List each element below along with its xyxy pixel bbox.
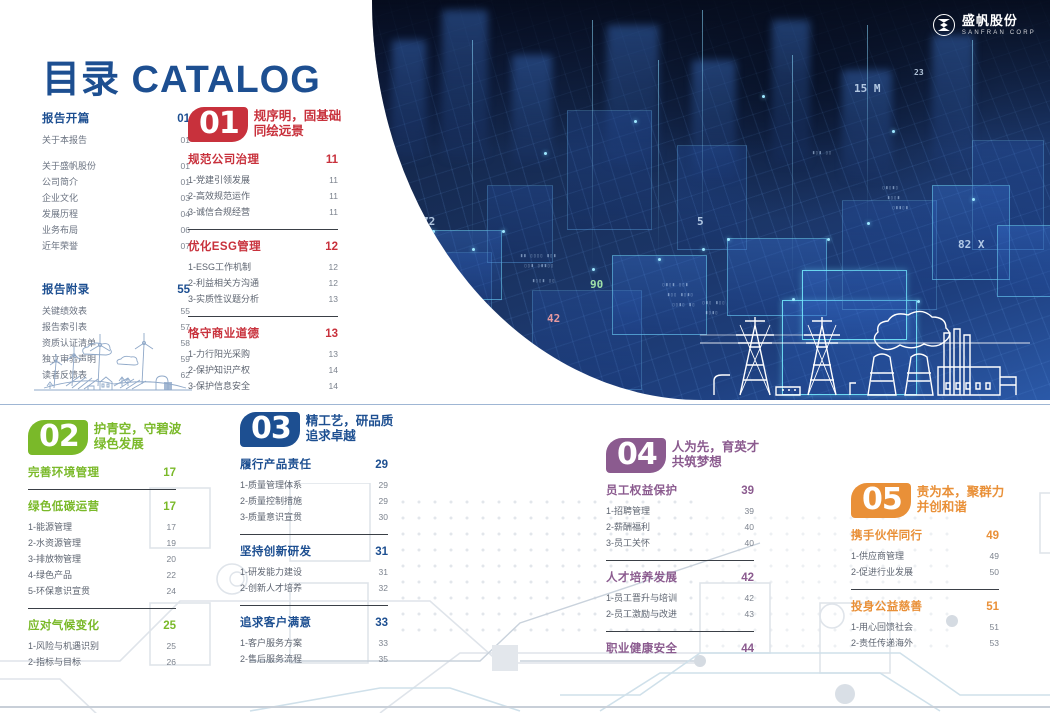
toc-group-title: 职业健康安全 [606, 640, 677, 656]
hero-node [892, 130, 895, 133]
toc-row[interactable]: 5-环保意识宣贯24 [28, 583, 176, 599]
toc-group-page: 33 [375, 617, 388, 629]
hero-node [592, 268, 595, 271]
toc-group-title: 携手伙伴同行 [851, 527, 922, 543]
toc-group-page: 31 [375, 546, 388, 558]
toc-row[interactable]: 关键绩效表 55 [42, 302, 190, 318]
logo-name-en: SANFRAN CORP [962, 30, 1036, 36]
toc-row-page: 49 [990, 551, 999, 561]
toc-section-02: 02 护青空，守碧波 绿色发展 完善环境管理 17 绿色低碳运营 17 1-能源… [28, 420, 176, 677]
toc-section-01: 01 规序明，固基础 同绘远景 规范公司治理 11 1-党建引领发展11 2-高… [188, 107, 338, 401]
toc-group-title: 绿色低碳运营 [28, 498, 99, 514]
toc-group: 追求客户满意 33 1-客户服务方案33 2-售后服务流程35 [240, 614, 388, 667]
toc-row[interactable]: 2-员工激励与改进43 [606, 606, 754, 622]
toc-row-page: 33 [379, 638, 388, 648]
footer-rule [0, 706, 1050, 708]
toc-row[interactable]: 2-责任传递海外53 [851, 635, 999, 651]
toc-group-head[interactable]: 完善环境管理 17 [28, 464, 176, 480]
toc-group-title: 投身公益慈善 [851, 598, 922, 614]
toc-group: 恪守商业道德 13 1-力行阳光采购13 2-保护知识产权14 3-保护信息安全… [188, 325, 338, 394]
company-logo: 盛帆股份 SANFRAN CORP [933, 14, 1036, 36]
toc-row[interactable]: 关于本报告 01 [42, 131, 190, 147]
hero-blur-block [932, 35, 974, 165]
toc-row-label: 2-指标与目标 [28, 655, 81, 668]
toc-row-label: 1-风险与机遇识别 [28, 639, 99, 652]
section-divider [851, 589, 999, 590]
toc-row[interactable]: 企业文化 03 [42, 189, 190, 205]
toc-row-page: 25 [167, 641, 176, 651]
hero-node [634, 120, 637, 123]
toc-row-label: 2-利益相关方沟通 [188, 276, 259, 289]
toc-group-page: 12 [325, 241, 338, 253]
section-divider [240, 534, 388, 535]
toc-row[interactable]: 2-指标与目标26 [28, 654, 176, 670]
toc-row-page: 30 [379, 512, 388, 522]
toc-group-head[interactable]: 优化ESG管理 12 [188, 238, 338, 254]
toc-row-page: 29 [379, 480, 388, 490]
section-badge-05: 05 责为本，聚群力 并创和谐 [851, 483, 999, 518]
toc-row-label: 2-创新人才培养 [240, 581, 302, 594]
toc-row-label: 1-用心回馈社会 [851, 620, 913, 633]
section-number: 03 [240, 412, 300, 447]
hero-beam [472, 40, 473, 250]
toc-group-page: 42 [741, 572, 754, 584]
toc-group-head[interactable]: 报告附录 55 [42, 281, 190, 297]
section-heading-line2: 追求卓越 [306, 429, 394, 444]
section-heading-line1: 人为先，育英才 [672, 440, 760, 455]
section-divider [240, 605, 388, 606]
toc-row-page: 11 [329, 191, 338, 201]
toc-row[interactable]: 1-研发能力建设31 [240, 564, 388, 580]
toc-row-label: 发展历程 [42, 207, 78, 220]
toc-row-page: 12 [329, 262, 338, 272]
toc-row-label: 2-责任传递海外 [851, 636, 913, 649]
toc-row-page: 32 [379, 583, 388, 593]
toc-row-label: 2-水资源管理 [28, 536, 81, 549]
toc-row-page: 11 [329, 207, 338, 217]
toc-row-page: 14 [329, 381, 338, 391]
toc-group-title: 追求客户满意 [240, 614, 311, 630]
hero-node [502, 230, 505, 233]
toc-row[interactable]: 3-质量意识宣贯30 [240, 509, 388, 525]
toc-group-title: 员工权益保护 [606, 482, 677, 498]
horizontal-rule [0, 404, 1050, 405]
toc-row-label: 1-力行阳光采购 [188, 347, 250, 360]
toc-row-page: 40 [745, 538, 754, 548]
section-divider [28, 608, 176, 609]
toc-group-page: 49 [986, 530, 999, 542]
section-heading-line2: 并创和谐 [917, 500, 1005, 515]
toc-row-page: 26 [167, 657, 176, 667]
hero-block [487, 185, 553, 263]
section-badge-04: 04 人为先，育英才 共筑梦想 [606, 438, 754, 473]
toc-row[interactable]: 4-绿色产品22 [28, 567, 176, 583]
toc-row-page: 14 [329, 365, 338, 375]
section-heading-line1: 精工艺，研品质 [306, 414, 394, 429]
hero-beam [867, 25, 868, 225]
toc-section-05: 05 责为本，聚群力 并创和谐 携手伙伴同行 49 1-供应商管理49 2-促进… [851, 483, 999, 658]
toc-row-label: 5-环保意识宣贯 [28, 584, 90, 597]
hero-beam [702, 10, 703, 250]
toc-group-head[interactable]: 报告开篇 01 [42, 110, 190, 126]
hero-beam [658, 60, 659, 260]
toc-group-title: 履行产品责任 [240, 456, 311, 472]
toc-row-page: 17 [167, 522, 176, 532]
toc-row[interactable]: 3-排放物管理20 [28, 551, 176, 567]
toc-row[interactable]: 3-保护信息安全14 [188, 378, 338, 394]
toc-group: 履行产品责任 29 1-质量管理体系29 2-质量控制措施29 3-质量意识宣贯… [240, 456, 388, 525]
hero-node [658, 258, 661, 261]
toc-row-page: 31 [379, 567, 388, 577]
toc-row[interactable]: 1-ESG工作机制12 [188, 259, 338, 275]
toc-group-head[interactable]: 携手伙伴同行 49 [851, 527, 999, 543]
toc-group-title: 恪守商业道德 [188, 325, 259, 341]
hero-beam [972, 40, 973, 200]
toc-group: 规范公司治理 11 1-党建引领发展11 2-高效规范运作11 3-诚信合规经营… [188, 151, 338, 220]
toc-row-label: 企业文化 [42, 191, 78, 204]
hero-node [472, 248, 475, 251]
toc-row-label: 报告索引表 [42, 320, 87, 333]
section-divider [188, 229, 338, 230]
toc-row-label: 1-招聘管理 [606, 504, 650, 517]
toc-group-page: 39 [741, 485, 754, 497]
hero-node [827, 238, 830, 241]
toc-group-page: 25 [163, 620, 176, 632]
toc-group-title: 完善环境管理 [28, 464, 99, 480]
toc-row[interactable]: 发展历程 04 [42, 205, 190, 221]
toc-row-page: 20 [167, 554, 176, 564]
toc-row-page: 43 [745, 609, 754, 619]
toc-group-title: 报告开篇 [42, 110, 90, 126]
toc-section-04: 04 人为先，育英才 共筑梦想 员工权益保护 39 1-招聘管理39 2-薪酬福… [606, 438, 754, 663]
hero-data-label: 90 [590, 278, 603, 291]
toc-row-label: 3-质量意识宣贯 [240, 510, 302, 523]
hero-image: ▮▮ ▯▯▯▯ ▮▯▮ ▯▯▮ ▯▮▮▯▯ ▮▯▯▮ ▯▯ ▯▮▯▮ ▯▯▮ ▮… [372, 0, 1050, 400]
toc-row-label: 1-ESG工作机制 [188, 260, 251, 273]
toc-row-page: 13 [329, 349, 338, 359]
power-grid-factory-illustration [700, 295, 1030, 400]
toc-group-page: 17 [163, 501, 176, 513]
logo-name-cn: 盛帆股份 [962, 14, 1036, 27]
section-number: 02 [28, 420, 88, 455]
toc-row-label: 2-高效规范运作 [188, 189, 250, 202]
toc-row-label: 3-实质性议题分析 [188, 292, 259, 305]
section-divider [28, 489, 176, 490]
hero-blur-block [512, 55, 552, 165]
toc-row-page: 53 [990, 638, 999, 648]
toc-row[interactable]: 3-员工关怀40 [606, 535, 754, 551]
section-heading-line2: 共筑梦想 [672, 455, 760, 470]
toc-row-page: 42 [745, 593, 754, 603]
toc-group-page: 29 [375, 459, 388, 471]
hero-beam [592, 20, 593, 270]
toc-section-03: 03 精工艺，研品质 追求卓越 履行产品责任 29 1-质量管理体系29 2-质… [240, 412, 388, 674]
page-title: 目录 CATALOG [42, 48, 321, 103]
toc-row-label: 3-保护信息安全 [188, 379, 250, 392]
section-heading-line1: 规序明，固基础 [254, 109, 342, 124]
toc-row-label: 3-员工关怀 [606, 536, 650, 549]
toc-group-page: 44 [741, 643, 754, 655]
toc-row[interactable]: 2-水资源管理19 [28, 535, 176, 551]
toc-row-label: 1-能源管理 [28, 520, 72, 533]
toc-group: 人才培养发展 42 1-员工晋升与培训42 2-员工激励与改进43 [606, 569, 754, 622]
toc-row-label: 业务布局 [42, 223, 78, 236]
toc-row[interactable]: 1-力行阳光采购13 [188, 346, 338, 362]
hero-data-label: 72 [422, 215, 435, 228]
toc-row-label: 近年荣誉 [42, 239, 78, 252]
toc-row[interactable]: 1-风险与机遇识别25 [28, 638, 176, 654]
hero-node [727, 238, 730, 241]
toc-row[interactable]: 公司简介 01 [42, 173, 190, 189]
toc-group-page: 11 [326, 154, 338, 166]
toc-group-title: 应对气候变化 [28, 617, 99, 633]
hero-blur-block [442, 10, 488, 160]
hero-block [567, 110, 652, 230]
toc-group-head[interactable]: 绿色低碳运营 17 [28, 498, 176, 514]
toc-group-page: 51 [986, 601, 999, 613]
hero-block [842, 200, 937, 310]
toc-row-label: 关于盛帆股份 [42, 159, 96, 172]
toc-group-page: 17 [163, 467, 176, 479]
hero-node [972, 198, 975, 201]
toc-group: 完善环境管理 17 [28, 464, 176, 480]
toc-group: 报告开篇 01 关于本报告 01 [42, 110, 190, 147]
toc-row-page: 50 [990, 567, 999, 577]
toc-row[interactable]: 关于盛帆股份 01 [42, 157, 190, 173]
toc-row[interactable]: 2-质量控制措施29 [240, 493, 388, 509]
sanfran-mark-icon [933, 14, 955, 36]
toc-row[interactable]: 业务布局 06 [42, 221, 190, 237]
toc-row-label: 1-供应商管理 [851, 549, 904, 562]
toc-row-page: 13 [329, 294, 338, 304]
toc-row-page: 29 [379, 496, 388, 506]
toc-group-head[interactable]: 职业健康安全 44 [606, 640, 754, 656]
toc-row-page: 24 [167, 586, 176, 596]
toc-group-head[interactable]: 投身公益慈善 51 [851, 598, 999, 614]
toc-group: 优化ESG管理 12 1-ESG工作机制12 2-利益相关方沟通12 3-实质性… [188, 238, 338, 307]
toc-row[interactable]: 1-员工晋升与培训42 [606, 590, 754, 606]
section-badge-01: 01 规序明，固基础 同绘远景 [188, 107, 338, 142]
toc-row[interactable]: 1-供应商管理49 [851, 548, 999, 564]
toc-row[interactable]: 1-能源管理17 [28, 519, 176, 535]
toc-row-label: 2-薪酬福利 [606, 520, 650, 533]
toc-row[interactable]: 1-客户服务方案33 [240, 635, 388, 651]
hero-data-label: 5 [697, 215, 704, 228]
toc-row[interactable]: 1-用心回馈社会51 [851, 619, 999, 635]
section-heading-line2: 同绘远景 [254, 124, 342, 139]
toc-row-label: 1-员工晋升与培训 [606, 591, 677, 604]
section-heading-line1: 护青空，守碧波 [94, 422, 182, 437]
toc-group: 职业健康安全 44 [606, 640, 754, 656]
toc-group-head[interactable]: 恪守商业道德 13 [188, 325, 338, 341]
toc-row-page: 12 [329, 278, 338, 288]
toc-group: 员工权益保护 39 1-招聘管理39 2-薪酬福利40 3-员工关怀40 [606, 482, 754, 551]
hero-data-label: 42 [547, 312, 560, 325]
section-number: 04 [606, 438, 666, 473]
hero-node [867, 222, 870, 225]
toc-row[interactable]: 2-售后服务流程35 [240, 651, 388, 667]
toc-row-page: 39 [745, 506, 754, 516]
hero-node [702, 248, 705, 251]
toc-row-page: 11 [329, 175, 338, 185]
toc-row[interactable]: 1-招聘管理39 [606, 503, 754, 519]
toc-row-label: 2-促进行业发展 [851, 565, 913, 578]
section-badge-03: 03 精工艺，研品质 追求卓越 [240, 412, 388, 447]
toc-row[interactable]: 1-质量管理体系29 [240, 477, 388, 493]
toc-row[interactable]: 2-高效规范运作11 [188, 188, 338, 204]
wind-farm-illustration [14, 332, 194, 394]
toc-row[interactable]: 2-创新人才培养32 [240, 580, 388, 596]
toc-row-label: 2-质量控制措施 [240, 494, 302, 507]
hero-node [762, 95, 765, 98]
toc-row-label: 1-研发能力建设 [240, 565, 302, 578]
toc-row[interactable]: 1-党建引领发展11 [188, 172, 338, 188]
toc-group-title: 规范公司治理 [188, 151, 259, 167]
toc-row-label: 3-诚信合规经营 [188, 205, 250, 218]
hero-data-label: 82 X [958, 238, 985, 251]
toc-group: 携手伙伴同行 49 1-供应商管理49 2-促进行业发展50 [851, 527, 999, 580]
toc-row[interactable]: 2-保护知识产权14 [188, 362, 338, 378]
toc-group-head[interactable]: 追求客户满意 33 [240, 614, 388, 630]
section-divider [606, 560, 754, 561]
toc-row-label: 2-保护知识产权 [188, 363, 250, 376]
toc-group-page: 13 [325, 328, 338, 340]
toc-group-head[interactable]: 应对气候变化 25 [28, 617, 176, 633]
hero-node [544, 152, 547, 155]
toc-group-head[interactable]: 人才培养发展 42 [606, 569, 754, 585]
toc-group: 坚持创新研发 31 1-研发能力建设31 2-创新人才培养32 [240, 543, 388, 596]
toc-group: 关于盛帆股份 01 公司简介 01 企业文化 03 发展历程 04 业务布局 0… [42, 157, 190, 253]
toc-row-label: 2-员工激励与改进 [606, 607, 677, 620]
toc-group: 应对气候变化 25 1-风险与机遇识别25 2-指标与目标26 [28, 617, 176, 670]
hero-blur-block [392, 40, 426, 160]
toc-row-label: 关于本报告 [42, 133, 87, 146]
toc-group-head[interactable]: 履行产品责任 29 [240, 456, 388, 472]
toc-row-page: 19 [167, 538, 176, 548]
toc-row-label: 关键绩效表 [42, 304, 87, 317]
section-divider [188, 316, 338, 317]
toc-group-title: 优化ESG管理 [188, 238, 261, 254]
hero-block [677, 145, 747, 250]
toc-row-label: 2-售后服务流程 [240, 652, 302, 665]
section-heading-line2: 绿色发展 [94, 437, 182, 452]
section-heading-line1: 责为本，聚群力 [917, 485, 1005, 500]
section-number: 01 [188, 107, 248, 142]
toc-row-page: 40 [745, 522, 754, 532]
toc-row-label: 1-党建引领发展 [188, 173, 250, 186]
toc-row-label: 4-绿色产品 [28, 568, 72, 581]
section-number: 05 [851, 483, 911, 518]
section-divider [606, 631, 754, 632]
toc-group-title: 报告附录 [42, 281, 90, 297]
toc-group: 投身公益慈善 51 1-用心回馈社会51 2-责任传递海外53 [851, 598, 999, 651]
toc-row-label: 公司简介 [42, 175, 78, 188]
toc-row-page: 35 [379, 654, 388, 664]
toc-group-title: 人才培养发展 [606, 569, 677, 585]
toc-group-head[interactable]: 坚持创新研发 31 [240, 543, 388, 559]
toc-row-page: 22 [167, 570, 176, 580]
toc-row-page: 51 [990, 622, 999, 632]
toc-row[interactable]: 3-实质性议题分析13 [188, 291, 338, 307]
hero-node [432, 230, 435, 233]
toc-group-head[interactable]: 员工权益保护 39 [606, 482, 754, 498]
toc-row[interactable]: 2-利益相关方沟通12 [188, 275, 338, 291]
catalog-page: ▮▮ ▯▯▯▯ ▮▯▮ ▯▯▮ ▯▮▮▯▯ ▮▯▯▮ ▯▯ ▯▮▯▮ ▯▯▮ ▮… [0, 0, 1050, 713]
toc-group-title: 坚持创新研发 [240, 543, 311, 559]
hero-data-label: 15 M [854, 82, 881, 95]
toc-row[interactable]: 2-薪酬福利40 [606, 519, 754, 535]
toc-row[interactable]: 3-诚信合规经营11 [188, 204, 338, 220]
hero-block [997, 225, 1050, 297]
toc-row[interactable]: 近年荣誉 07 [42, 237, 190, 253]
toc-group: 绿色低碳运营 17 1-能源管理17 2-水资源管理19 3-排放物管理20 4… [28, 498, 176, 599]
hero-data-label: 23 [914, 68, 924, 77]
toc-row-label: 3-排放物管理 [28, 552, 81, 565]
section-badge-02: 02 护青空，守碧波 绿色发展 [28, 420, 176, 455]
toc-row[interactable]: 2-促进行业发展50 [851, 564, 999, 580]
toc-row-label: 1-客户服务方案 [240, 636, 302, 649]
toc-row-label: 1-质量管理体系 [240, 478, 302, 491]
toc-group-head[interactable]: 规范公司治理 11 [188, 151, 338, 167]
hero-beam [792, 55, 793, 285]
hero-blur-block [772, 20, 810, 165]
